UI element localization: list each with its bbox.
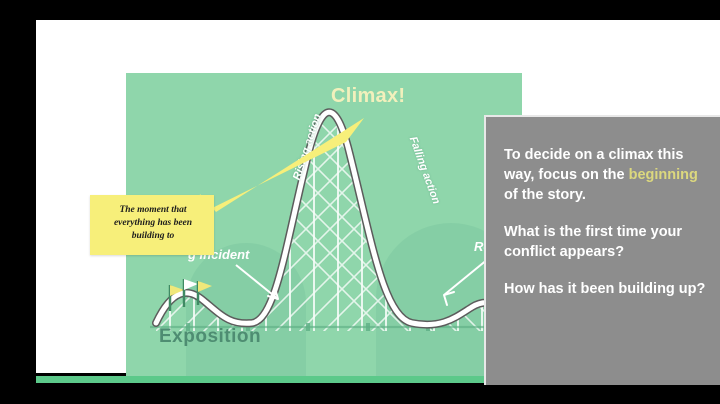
inciting-incident-arrow [236,265,278,299]
overlay-paragraph-2: What is the first time your conflict app… [504,222,709,262]
overlay-p1-after: of the story. [504,187,586,203]
overlay-note-text: To decide on a climax this way, focus on… [504,145,709,316]
overlay-note-panel: To decide on a climax this way, focus on… [484,115,720,385]
callout-pointer-icon [196,116,366,226]
callout-box: The moment that everything has been buil… [90,195,214,255]
label-exposition: Exposition [159,326,261,348]
overlay-p1-highlight: beginning [629,167,698,183]
resolution-arrow [444,259,488,305]
overlay-paragraph-1: To decide on a climax this way, focus on… [504,145,709,205]
screenshot-stage: Climax! Rising action Falling action g i… [0,0,720,404]
overlay-paragraph-3: How has it been building up? [504,279,709,299]
climax-title: Climax! [331,85,405,108]
callout-text: The moment that everything has been buil… [98,204,208,243]
